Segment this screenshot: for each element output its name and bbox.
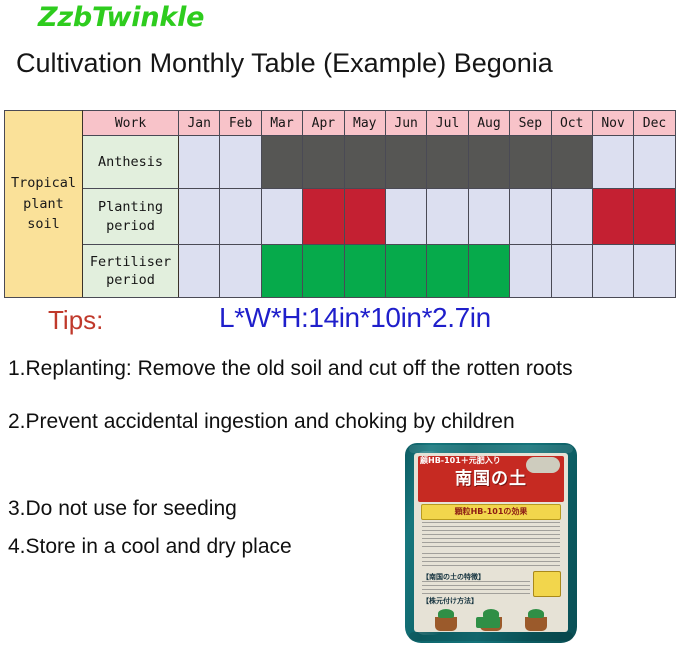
- bag-side-badge: [533, 571, 561, 597]
- cell-planting-jan: [179, 189, 220, 245]
- cell-planting-may: [344, 189, 385, 245]
- cell-anthesis-sep: [510, 136, 551, 189]
- cell-anthesis-feb: [220, 136, 261, 189]
- product-bag-image: 顧HB-101＋元肥入り 南国の土 顆粒HB-101の効果 【南国の土の特徴】 …: [405, 443, 577, 643]
- cell-anthesis-may: [344, 136, 385, 189]
- month-header-apr: Apr: [303, 111, 344, 136]
- cell-planting-dec: [634, 189, 675, 245]
- month-header-may: May: [344, 111, 385, 136]
- bag-bottom-seal: [409, 632, 573, 641]
- bag-text-block: [422, 553, 560, 569]
- row-label-anthesis: Anthesis: [83, 136, 179, 189]
- cultivation-monthly-table: Tropical plant soil Work Jan Feb Mar Apr…: [4, 110, 676, 298]
- tip-item-4: 4.Store in a cool and dry place: [8, 535, 292, 559]
- month-header-feb: Feb: [220, 111, 261, 136]
- soil-label-line-2: plant: [5, 194, 82, 215]
- cell-planting-mar: [261, 189, 302, 245]
- table-row: Fertiliser period: [5, 245, 676, 298]
- work-header-cell: Work: [83, 111, 179, 136]
- table-row: Planting period: [5, 189, 676, 245]
- row-label-line-1: Planting: [83, 198, 178, 216]
- cell-anthesis-apr: [303, 136, 344, 189]
- brand-logo: ZzbTwinkle: [38, 2, 204, 33]
- row-label-line-1: Fertiliser: [83, 253, 178, 271]
- row-label-planting-period: Planting period: [83, 189, 179, 245]
- bag-top-seal: [409, 445, 573, 453]
- month-header-mar: Mar: [261, 111, 302, 136]
- cell-anthesis-mar: [261, 136, 302, 189]
- row-label-fertiliser-period: Fertiliser period: [83, 245, 179, 298]
- cell-anthesis-jul: [427, 136, 468, 189]
- month-header-oct: Oct: [551, 111, 592, 136]
- soil-label-line-1: Tropical: [5, 173, 82, 194]
- month-header-jun: Jun: [385, 111, 426, 136]
- bag-japanese-title: 南国の土: [414, 464, 568, 489]
- cell-anthesis-nov: [592, 136, 633, 189]
- cell-planting-feb: [220, 189, 261, 245]
- month-header-dec: Dec: [634, 111, 675, 136]
- cell-fertiliser-oct: [551, 245, 592, 298]
- cell-fertiliser-jun: [385, 245, 426, 298]
- row-label-line-2: period: [83, 271, 178, 289]
- cell-fertiliser-jan: [179, 245, 220, 298]
- month-header-jan: Jan: [179, 111, 220, 136]
- cell-fertiliser-aug: [468, 245, 509, 298]
- row-label-line-1: Anthesis: [83, 153, 178, 171]
- cell-planting-apr: [303, 189, 344, 245]
- month-header-nov: Nov: [592, 111, 633, 136]
- table-row: Anthesis: [5, 136, 676, 189]
- bag-text-block: [422, 522, 560, 548]
- soil-category-cell: Tropical plant soil: [5, 111, 83, 298]
- bag-green-badge: [476, 617, 500, 628]
- tips-label: Tips:: [48, 305, 103, 336]
- tip-item-1: 1.Replanting: Remove the old soil and cu…: [8, 357, 573, 381]
- month-header-aug: Aug: [468, 111, 509, 136]
- cell-planting-nov: [592, 189, 633, 245]
- cell-planting-oct: [551, 189, 592, 245]
- plant-pot-icon: [525, 617, 547, 631]
- cell-anthesis-dec: [634, 136, 675, 189]
- page-title: Cultivation Monthly Table (Example) Bego…: [16, 48, 553, 79]
- soil-label-line-3: soil: [5, 214, 82, 235]
- tip-item-2: 2.Prevent accidental ingestion and choki…: [8, 410, 515, 434]
- cell-fertiliser-nov: [592, 245, 633, 298]
- cell-planting-jun: [385, 189, 426, 245]
- cell-anthesis-aug: [468, 136, 509, 189]
- cell-fertiliser-mar: [261, 245, 302, 298]
- bag-label-face: 顧HB-101＋元肥入り 南国の土 顆粒HB-101の効果 【南国の土の特徴】 …: [414, 453, 568, 632]
- cell-fertiliser-sep: [510, 245, 551, 298]
- bag-text-block: [422, 581, 530, 594]
- month-header-jul: Jul: [427, 111, 468, 136]
- cell-anthesis-oct: [551, 136, 592, 189]
- product-dimensions: L*W*H:14in*10in*2.7in: [219, 302, 491, 334]
- cell-fertiliser-feb: [220, 245, 261, 298]
- cell-fertiliser-dec: [634, 245, 675, 298]
- cell-planting-jul: [427, 189, 468, 245]
- cell-anthesis-jun: [385, 136, 426, 189]
- plant-pot-icon: [435, 617, 457, 631]
- cell-planting-aug: [468, 189, 509, 245]
- month-header-sep: Sep: [510, 111, 551, 136]
- bag-yellow-band: 顆粒HB-101の効果: [421, 504, 561, 520]
- cell-fertiliser-jul: [427, 245, 468, 298]
- cell-anthesis-jan: [179, 136, 220, 189]
- table-header-row: Tropical plant soil Work Jan Feb Mar Apr…: [5, 111, 676, 136]
- cell-planting-sep: [510, 189, 551, 245]
- cell-fertiliser-may: [344, 245, 385, 298]
- tip-item-3: 3.Do not use for seeding: [8, 497, 237, 521]
- cell-fertiliser-apr: [303, 245, 344, 298]
- row-label-line-2: period: [83, 217, 178, 235]
